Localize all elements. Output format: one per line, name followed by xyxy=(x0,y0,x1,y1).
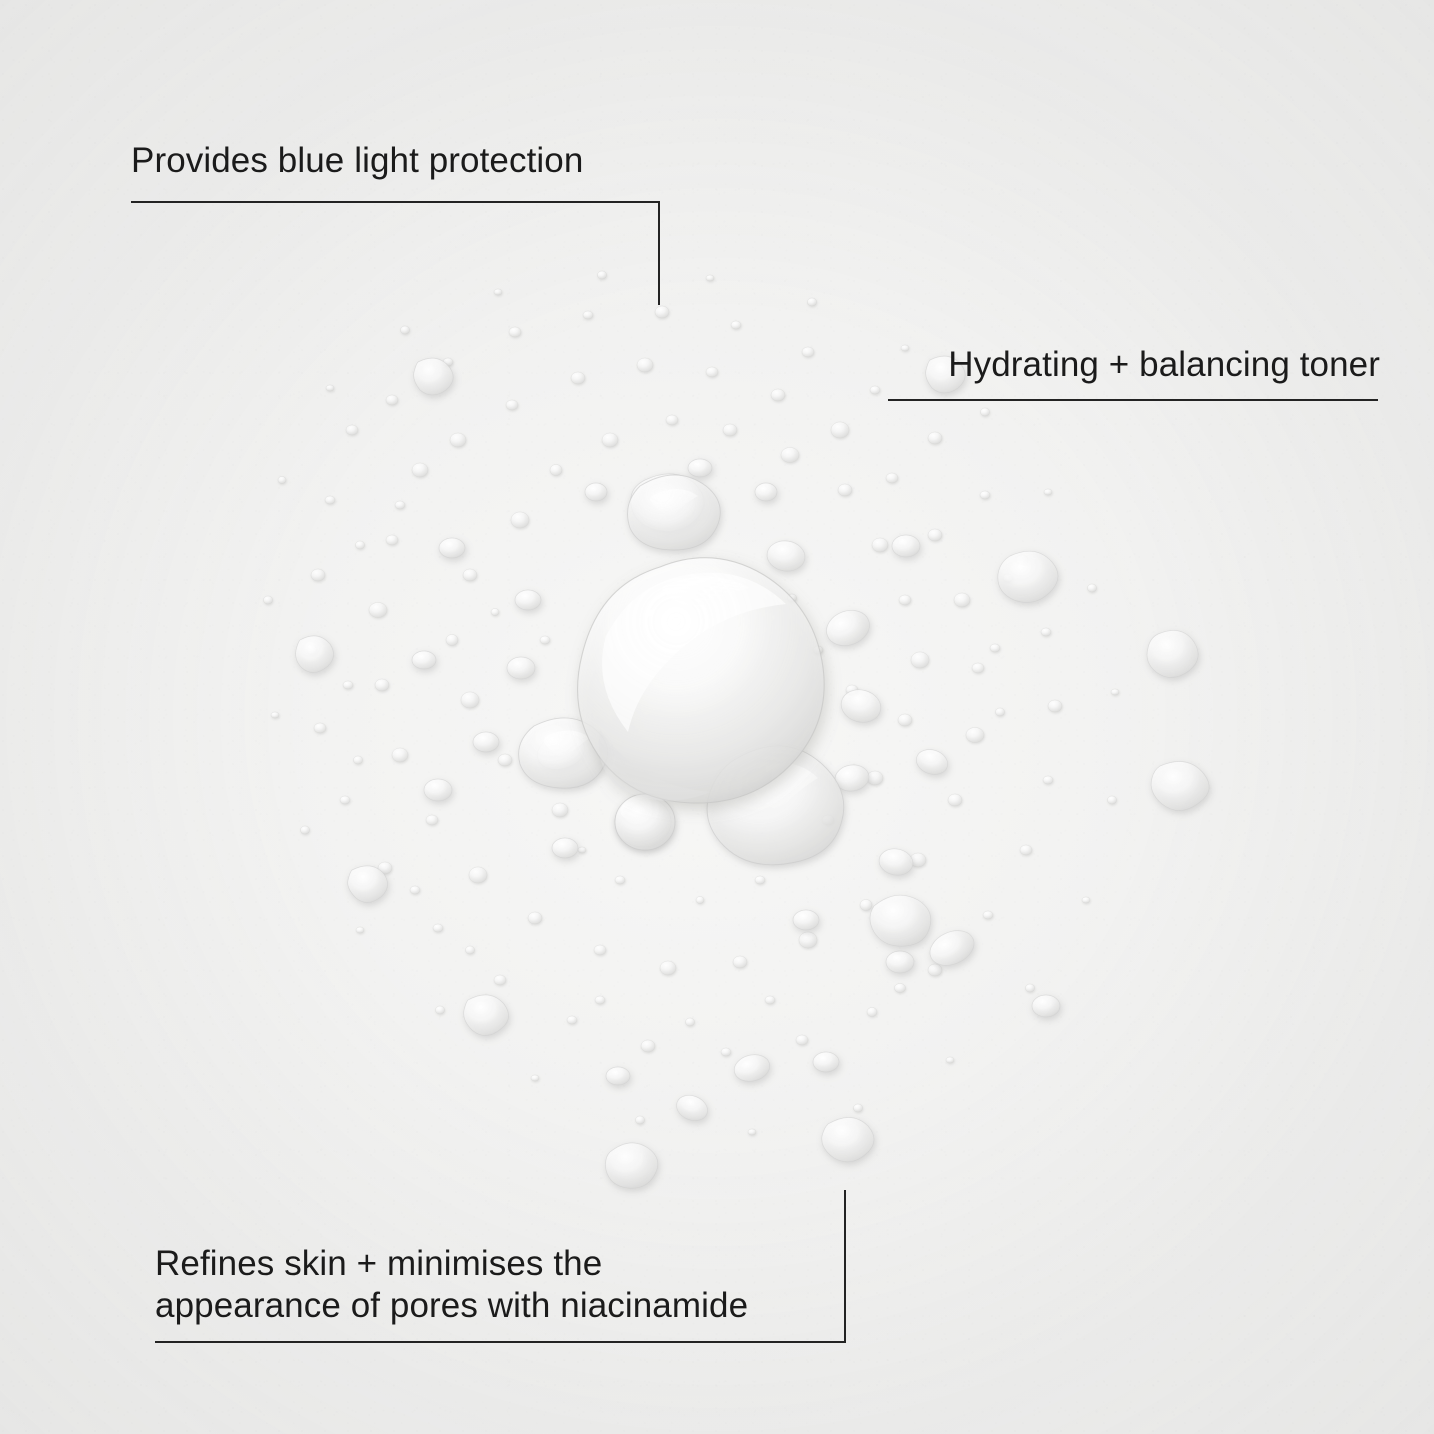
infographic-canvas: Provides blue light protection Hydrating… xyxy=(0,0,1434,1434)
callout-refines-leader-horizontal xyxy=(155,1341,845,1343)
callout-blue-light-leader-vertical xyxy=(658,201,660,305)
callout-toner-leader-horizontal xyxy=(888,399,1378,401)
callout-blue-light-text: Provides blue light protection xyxy=(131,140,671,182)
callout-toner-text: Hydrating + balancing toner xyxy=(888,344,1380,386)
callout-blue-light-leader-horizontal xyxy=(131,201,659,203)
callout-toner: Hydrating + balancing toner xyxy=(888,344,1380,386)
background-vignette xyxy=(0,0,1434,1434)
callout-blue-light: Provides blue light protection xyxy=(131,140,671,182)
callout-refines-leader-vertical xyxy=(844,1190,846,1343)
callout-refines: Refines skin + minimises the appearance … xyxy=(155,1243,855,1327)
callout-refines-text: Refines skin + minimises the appearance … xyxy=(155,1243,855,1327)
